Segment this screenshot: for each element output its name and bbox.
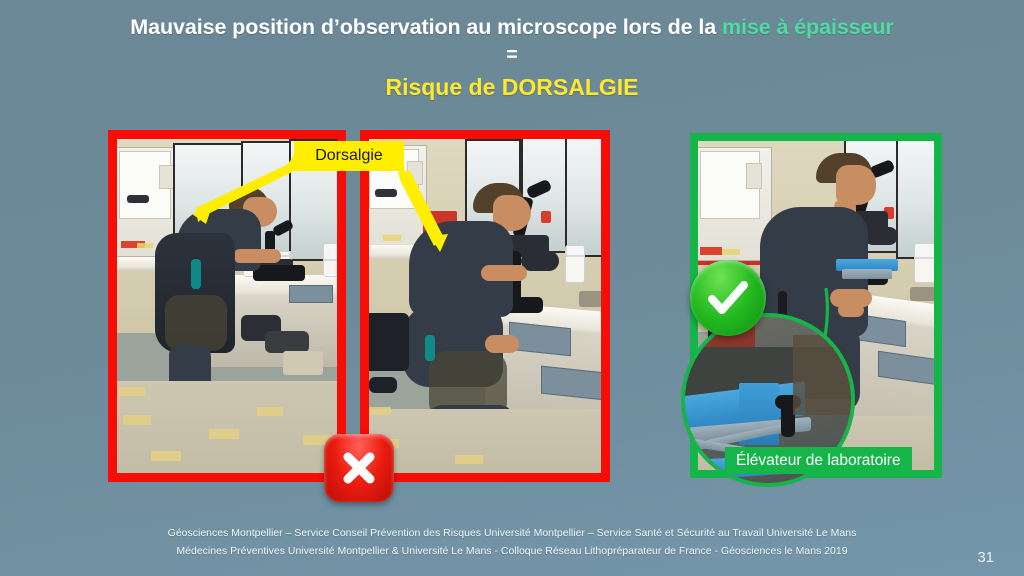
photo-panel-bad-seated [360, 130, 610, 482]
title-line-2: Risque de DORSALGIE [0, 72, 1024, 102]
footer-line-2: Médecines Préventives Université Montpel… [0, 542, 1024, 560]
photo-panel-bad-standing [108, 130, 346, 482]
footer-line-1: Géosciences Montpellier – Service Consei… [0, 524, 1024, 542]
slide-title-block: Mauvaise position d’observation au micro… [0, 14, 1024, 102]
slide-footer: Géosciences Montpellier – Service Consei… [0, 524, 1024, 560]
presentation-slide: Mauvaise position d’observation au micro… [0, 0, 1024, 576]
elevator-caption: Élévateur de laboratoire [725, 447, 912, 474]
dorsalgie-label: Dorsalgie [294, 141, 404, 171]
title-line-1-prefix: Mauvaise position d’observation au micro… [130, 15, 722, 39]
page-number: 31 [977, 549, 994, 566]
title-equals-sign: = [0, 42, 1024, 68]
check-icon [690, 260, 766, 336]
cross-icon [324, 434, 394, 502]
lab-scene-standing [117, 139, 337, 473]
title-line-1-accent: mise à épaisseur [722, 15, 894, 39]
lab-scene-seated [369, 139, 601, 473]
title-line-1: Mauvaise position d’observation au micro… [0, 14, 1024, 40]
